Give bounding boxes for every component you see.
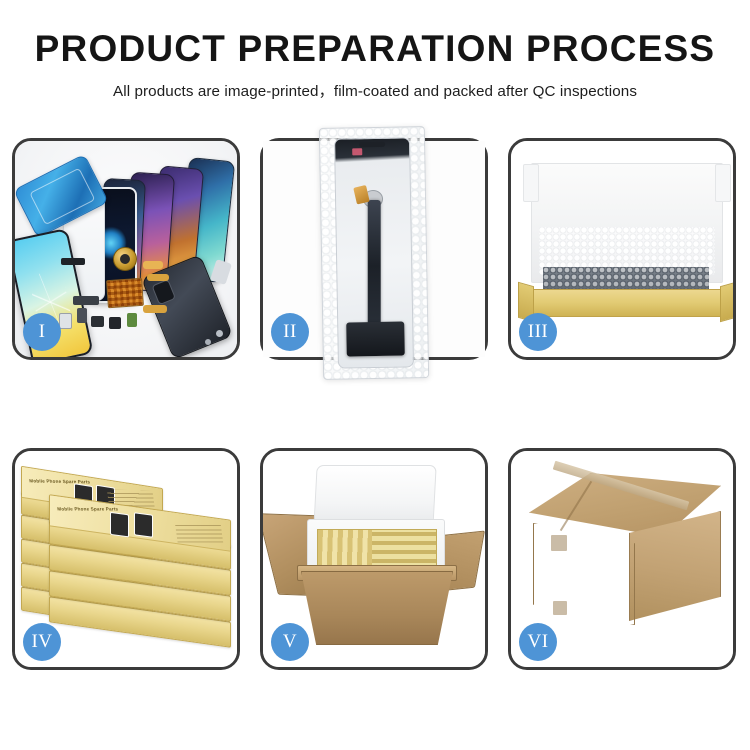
- spare-part-icon: [109, 317, 121, 329]
- flex-cable-icon: [143, 305, 167, 313]
- carton-body-icon: [301, 571, 453, 645]
- step-panel-4[interactable]: Mobile Phone Spare Parts Mobile Phone Sp…: [12, 448, 240, 670]
- step-badge-4: IV: [23, 623, 61, 661]
- spare-part-icon: [61, 258, 85, 265]
- step-badge-label: I: [39, 321, 46, 343]
- gold-box-stack: Mobile Phone Spare Parts Mobile Phone Sp…: [21, 475, 235, 651]
- step-badge-3: III: [519, 313, 557, 351]
- step-panel-2[interactable]: II: [260, 138, 488, 360]
- sim-tray-icon: [59, 313, 72, 329]
- process-steps-grid: I: [0, 138, 750, 698]
- step-badge-2: II: [271, 313, 309, 351]
- chip-array-icon: [106, 278, 144, 308]
- product-preparation-infographic: PRODUCT PREPARATION PROCESS All products…: [0, 0, 750, 750]
- header: PRODUCT PREPARATION PROCESS All products…: [0, 30, 750, 101]
- box-thumbnail-icon: [110, 512, 129, 538]
- flex-cable-icon: [368, 200, 381, 332]
- step-badge-label: III: [528, 321, 548, 343]
- step-panel-5[interactable]: V: [260, 448, 488, 670]
- step-badge-label: VI: [527, 631, 548, 653]
- red-label-icon: [352, 148, 362, 155]
- step-badge-label: II: [283, 321, 297, 343]
- step-badge-5: V: [271, 623, 309, 661]
- spare-part-icon: [77, 308, 87, 323]
- step-badge-label: IV: [31, 631, 52, 653]
- step-panel-3[interactable]: III: [508, 138, 736, 360]
- box-spec-lines: [175, 522, 223, 542]
- page-title: PRODUCT PREPARATION PROCESS: [0, 30, 750, 69]
- spare-part-icon: [143, 261, 163, 269]
- battery-part-icon: [127, 313, 137, 327]
- spare-part-icon: [91, 316, 104, 327]
- step-panel-1[interactable]: I: [12, 138, 240, 360]
- connector-board-icon: [346, 321, 405, 356]
- speaker-coil-icon: [113, 247, 137, 271]
- step-badge-label: V: [283, 631, 297, 653]
- carton-tab-icon: [551, 535, 567, 551]
- gold-box-tray-icon: [529, 289, 725, 317]
- screw-icon: [216, 330, 223, 337]
- spare-part-icon: [73, 296, 99, 305]
- step-badge-6: VI: [519, 623, 557, 661]
- spare-part-icon: [147, 274, 169, 281]
- screw-icon: [205, 339, 211, 345]
- box-thumbnail-icon: [134, 512, 153, 538]
- box-label-text: Mobile Phone Spare Parts: [57, 507, 119, 512]
- bubble-wrap-icon: [319, 126, 429, 380]
- step-badge-1: I: [23, 313, 61, 351]
- page-subtitle: All products are image-printed，film-coat…: [0, 79, 750, 101]
- carton-tab-icon: [553, 601, 567, 615]
- step-panel-6[interactable]: VI: [508, 448, 736, 670]
